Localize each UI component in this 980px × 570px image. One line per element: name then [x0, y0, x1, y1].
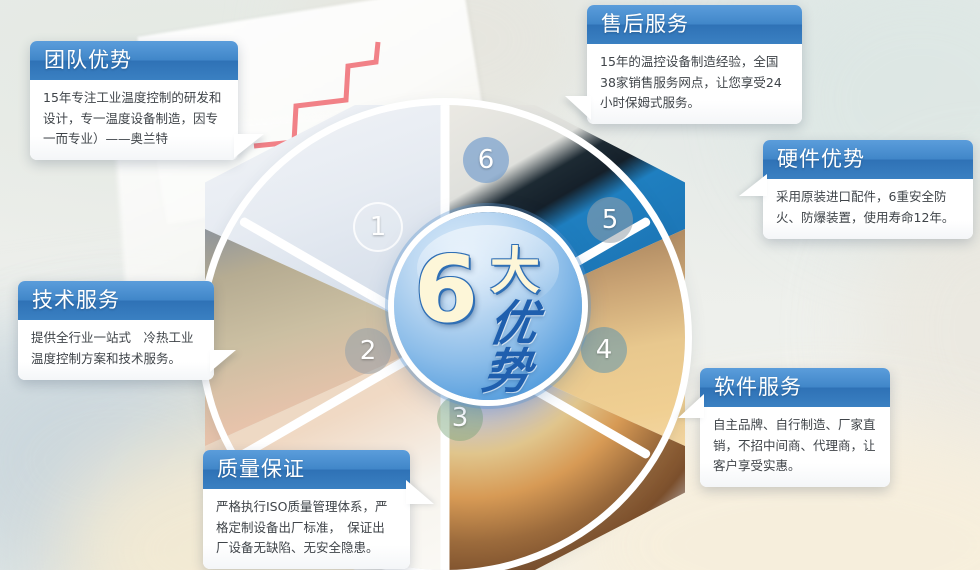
segment-number-4[interactable]: 4: [581, 327, 627, 373]
card-body-after-sales: 15年的温控设备制造经验，全国38家销售服务网点，让您享受24小时保姆式服务。: [587, 44, 802, 124]
card-body-team: 15年专注工业温度控制的研发和设计，专一温度设备制造，因专一而专业）——奥兰特: [30, 80, 238, 160]
callout-card-software[interactable]: 软件服务 自主品牌、自行制造、厂家直销，不招中间商、代理商，让客户享受实惠。: [700, 368, 890, 487]
segment-number-3[interactable]: 3: [437, 395, 483, 441]
card-body-technical: 提供全行业一站式 冷热工业温度控制方案和技术服务。: [18, 320, 214, 380]
segment-number-label: 3: [452, 405, 469, 431]
card-body-software: 自主品牌、自行制造、厂家直销，不招中间商、代理商，让客户享受实惠。: [700, 407, 890, 487]
card-title-quality: 质量保证: [203, 450, 410, 489]
callout-card-team[interactable]: 团队优势 15年专注工业温度控制的研发和设计，专一温度设备制造，因专一而专业）—…: [30, 41, 238, 160]
segment-number-label: 5: [602, 207, 619, 233]
card-title-technical: 技术服务: [18, 281, 214, 320]
segment-number-label: 2: [360, 338, 377, 364]
card-title-software: 软件服务: [700, 368, 890, 407]
infographic-canvas: 1 2 3 4 5 6 6 大 优势 团队优势 15年专注工业温度控制的研发和设…: [0, 0, 980, 570]
card-pointer: [210, 350, 236, 372]
center-big-char: 大: [490, 246, 540, 296]
card-body-quality: 严格执行ISO质量管理体系，严格定制设备出厂标准， 保证出厂设备无缺陷、无安全隐…: [203, 489, 410, 569]
callout-card-after-sales[interactable]: 售后服务 15年的温控设备制造经验，全国38家销售服务网点，让您享受24小时保姆…: [587, 5, 802, 124]
card-title-after-sales: 售后服务: [587, 5, 802, 44]
card-pointer: [565, 96, 591, 120]
center-badge-inner: 6 大 优势: [394, 212, 582, 400]
segment-number-label: 1: [370, 214, 387, 240]
callout-card-hardware[interactable]: 硬件优势 采用原装进口配件，6重安全防火、防爆装置，使用寿命12年。: [763, 140, 973, 239]
card-pointer: [678, 394, 704, 418]
card-title-hardware: 硬件优势: [763, 140, 973, 179]
segment-number-5[interactable]: 5: [587, 197, 633, 243]
callout-card-quality[interactable]: 质量保证 严格执行ISO质量管理体系，严格定制设备出厂标准， 保证出厂设备无缺陷…: [203, 450, 410, 569]
card-title-team: 团队优势: [30, 41, 238, 80]
segment-number-6[interactable]: 6: [463, 137, 509, 183]
center-script-text: 优势: [479, 300, 582, 396]
card-pointer: [406, 480, 434, 504]
card-body-hardware: 采用原装进口配件，6重安全防火、防爆装置，使用寿命12年。: [763, 179, 973, 239]
segment-number-label: 4: [596, 337, 613, 363]
callout-card-technical[interactable]: 技术服务 提供全行业一站式 冷热工业温度控制方案和技术服务。: [18, 281, 214, 380]
center-number: 6: [414, 248, 478, 333]
segment-number-label: 6: [478, 147, 495, 173]
center-badge[interactable]: 6 大 优势: [394, 212, 582, 400]
card-pointer: [739, 174, 767, 196]
segment-number-2[interactable]: 2: [345, 328, 391, 374]
card-pointer: [234, 134, 264, 158]
